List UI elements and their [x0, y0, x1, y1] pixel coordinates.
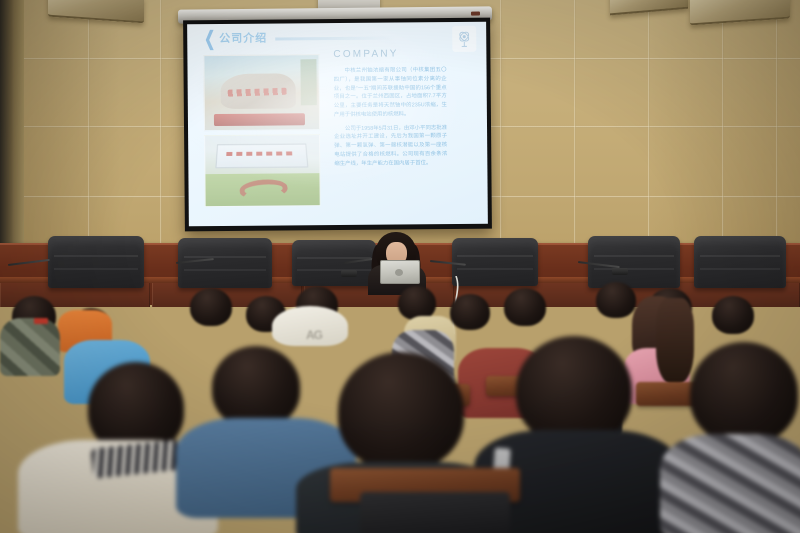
slide-photo-company-gate — [204, 134, 321, 207]
slide-title-underline — [275, 36, 395, 40]
chevron-left-icon: ❮ — [204, 27, 215, 51]
slide-photo-stack — [203, 54, 320, 207]
dais-chair — [588, 236, 680, 288]
atom-nuclear-logo-icon — [452, 26, 476, 52]
laptop-lid-logo — [395, 269, 403, 276]
dais-chair — [178, 238, 272, 288]
dais-chair — [48, 236, 144, 288]
audience-camouflage-jacket — [0, 318, 60, 376]
camo-jacket-red-patch — [34, 318, 48, 324]
screen-roller-knob — [471, 11, 480, 15]
slide-photo-monument — [203, 54, 320, 131]
audience-grey-check-coat — [660, 434, 800, 533]
slide-text-column: COMPANY 中核兰州铀浓缩有限公司（中核集团五〇四厂），是我国第一家从事铀同… — [333, 48, 447, 173]
dais-chair — [694, 236, 786, 288]
slide-paragraph-1: 中核兰州铀浓缩有限公司（中核集团五〇四厂），是我国第一家从事铀同位素分离的企业，… — [333, 66, 446, 119]
conference-hall-photo: ❮ 公司介绍 — [0, 0, 800, 533]
dais-chair — [292, 240, 376, 286]
audience-long-hair-strand — [656, 298, 694, 384]
projected-slide: ❮ 公司介绍 — [187, 22, 488, 227]
slide-paragraph-2: 公司于1958年5月31日，由邓小平同志批准企业选址并开工建设，先后为我国第一颗… — [334, 124, 447, 169]
left-wall-edge-secondary — [14, 0, 24, 262]
slide-heading: COMPANY — [333, 48, 446, 60]
slide-title: 公司介绍 — [219, 30, 267, 46]
cap-text: AG — [306, 328, 322, 342]
projection-screen-frame: ❮ 公司介绍 — [183, 18, 492, 232]
presenter-laptop — [379, 260, 421, 286]
